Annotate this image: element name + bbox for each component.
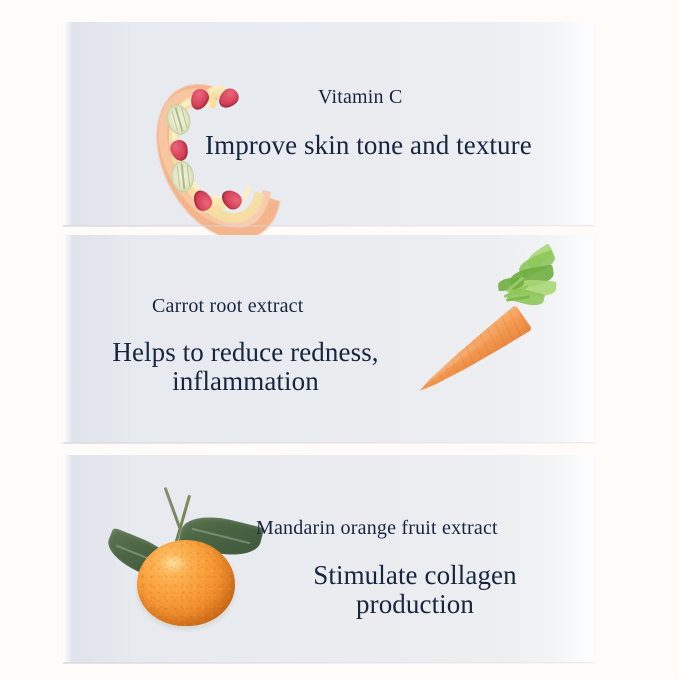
carrot-root-ridges <box>411 305 533 403</box>
benefit-text-mandarin-orange-fruit-extract: Stimulate collagen production <box>282 561 548 619</box>
ingredient-name-mandarin-orange-fruit-extract: Mandarin orange fruit extract <box>256 517 498 540</box>
benefit-text-carrot-root-extract: Helps to reduce redness, inflammation <box>88 338 403 396</box>
mandarin-orange-image <box>95 478 280 643</box>
ingredient-name-carrot-root-extract: Carrot root extract <box>152 295 304 318</box>
ingredient-benefits-board: Vitamin C Improve skin tone and texture … <box>0 0 679 679</box>
ingredient-name-vitamin-c: Vitamin C <box>318 86 403 109</box>
ingredient-panel-vitamin-c <box>63 22 595 225</box>
mandarin-peel-texture <box>137 540 235 626</box>
mandarin-stem <box>164 487 182 529</box>
carrot-image <box>378 250 563 420</box>
benefit-text-vitamin-c: Improve skin tone and texture <box>205 131 595 160</box>
